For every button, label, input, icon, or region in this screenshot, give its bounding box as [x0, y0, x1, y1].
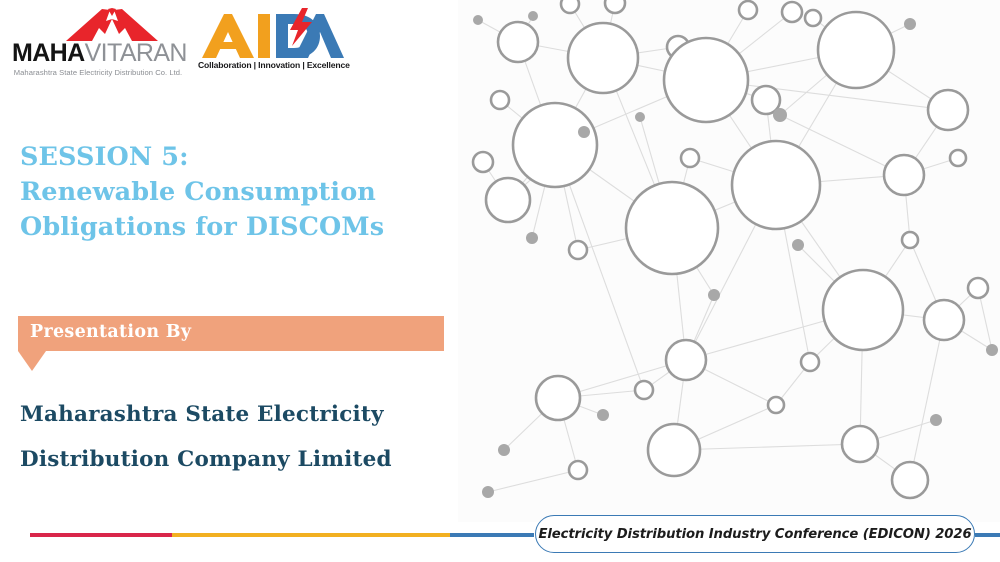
aida-tagline: Collaboration | Innovation | Excellence: [198, 60, 344, 70]
aida-logo: Collaboration | Innovation | Excellence: [198, 8, 344, 78]
presenter-line-1: Maharashtra State Electricity: [20, 392, 440, 437]
session-title-line-1: SESSION 5:: [20, 140, 440, 175]
session-title-line-3: Obligations for DISCOMs: [20, 210, 440, 245]
session-title: SESSION 5: Renewable Consumption Obligat…: [20, 140, 440, 245]
session-title-line-2: Renewable Consumption: [20, 175, 440, 210]
mahavitaran-wordmark: MAHAVITARAN: [12, 41, 184, 66]
banner-pointer-triangle: [18, 351, 46, 371]
mahavitaran-word-primary: MAHA: [12, 39, 85, 67]
rule-segment-blue: [450, 533, 534, 537]
network-illustration: [458, 0, 1000, 522]
conference-name-label: Electricity Distribution Industry Confer…: [538, 527, 971, 542]
rule-segment-blue-right: [975, 533, 1000, 537]
presenter-organisation: Maharashtra State Electricity Distributi…: [20, 392, 440, 482]
presenter-line-2: Distribution Company Limited: [20, 437, 440, 482]
conference-name-pill: Electricity Distribution Industry Confer…: [535, 515, 975, 553]
mahavitaran-logo: MAHAVITARAN Maharashtra State Electricit…: [12, 8, 184, 80]
title-slide: MAHAVITARAN Maharashtra State Electricit…: [0, 0, 1000, 562]
rule-segment-yellow: [172, 533, 450, 537]
logo-row: MAHAVITARAN Maharashtra State Electricit…: [0, 0, 458, 92]
rule-segment-red: [30, 533, 172, 537]
mahavitaran-tagline: Maharashtra State Electricity Distributi…: [12, 68, 184, 77]
presentation-by-banner: Presentation By: [18, 316, 444, 351]
mahavitaran-word-secondary: VITARAN: [85, 39, 187, 67]
presentation-by-label: Presentation By: [30, 322, 191, 342]
aida-lettermark: [198, 8, 344, 60]
